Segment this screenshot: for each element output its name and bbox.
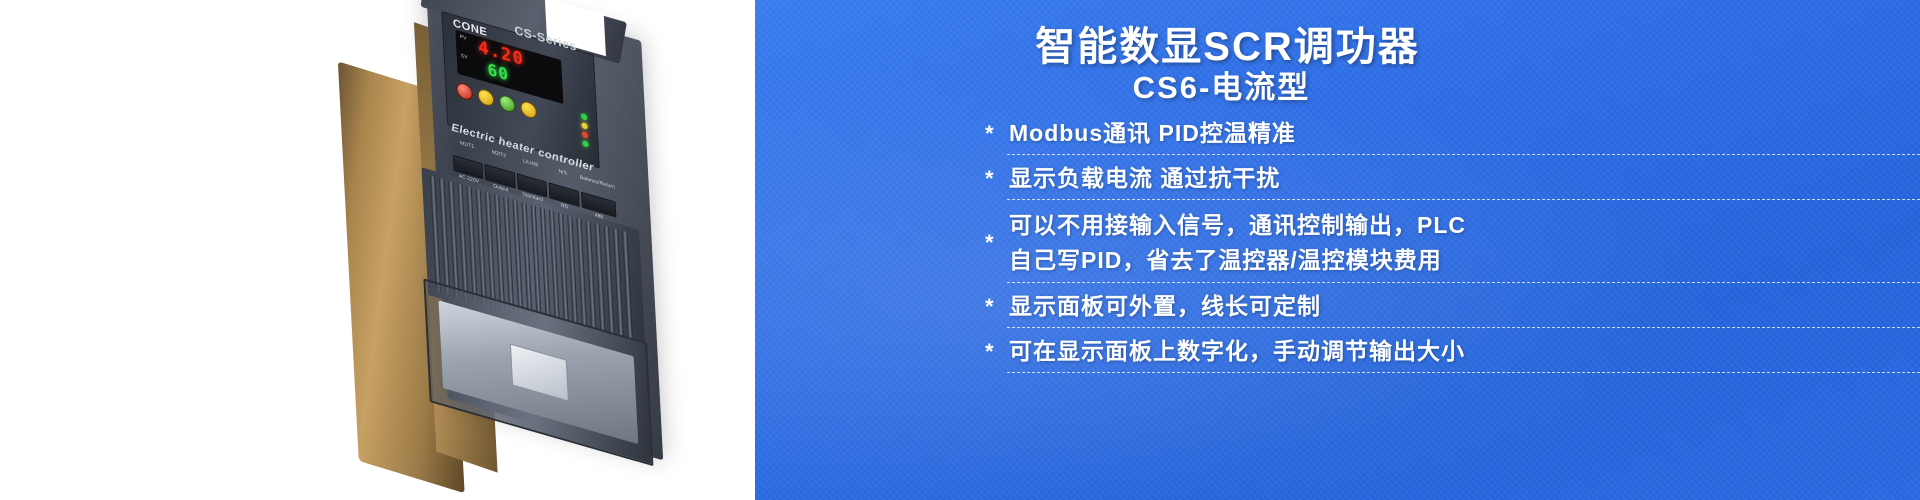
feature-divider	[1007, 327, 1920, 328]
heatsink-fin	[622, 231, 633, 348]
pv-label: PV	[460, 34, 467, 42]
lower-nameplate	[510, 343, 569, 402]
bullet-star-icon: *	[985, 232, 1009, 254]
feature-item: *显示面板可外置，线长可定制	[985, 291, 1785, 328]
feature-text: 可在显示面板上数字化，手动调节输出大小	[1009, 336, 1465, 367]
feature-item: *可以不用接输入信号，通讯控制输出，PLC 自己写PID，省去了温控器/温控模块…	[985, 208, 1785, 283]
feature-divider	[1007, 199, 1920, 200]
marketing-info-pane: 智能数显SCR调功器 CS6-电流型 *Modbus通讯 PID控温精准*显示负…	[755, 0, 1920, 500]
feature-item: *显示负载电流 通过抗干扰	[985, 163, 1785, 200]
set-button[interactable]	[456, 81, 473, 102]
bullet-star-icon: *	[985, 341, 1009, 363]
page-subtitle: CS6-电流型	[755, 62, 1920, 107]
scr-power-regulator-photo: CONE PV SV 4.20 60	[318, 0, 755, 500]
feature-list: *Modbus通讯 PID控温精准*显示负载电流 通过抗干扰*可以不用接输入信号…	[985, 118, 1785, 381]
feature-text: 显示负载电流 通过抗干扰	[1009, 163, 1280, 194]
sv-label: SV	[461, 53, 468, 61]
feature-text: 显示面板可外置，线长可定制	[1009, 291, 1321, 322]
feature-divider	[1007, 154, 1920, 155]
feature-item: *Modbus通讯 PID控温精准	[985, 118, 1785, 155]
output-lamp	[582, 140, 588, 148]
fault-lamp	[582, 131, 588, 139]
run-lamp	[581, 113, 587, 121]
down-button[interactable]	[499, 93, 516, 114]
feature-item: *可在显示面板上数字化，手动调节输出大小	[985, 336, 1785, 373]
feature-divider	[1007, 282, 1920, 283]
up-button[interactable]	[520, 99, 537, 120]
feature-divider	[1007, 372, 1920, 373]
shift-button[interactable]	[477, 87, 494, 108]
status-indicator-lamps	[581, 113, 589, 148]
bullet-star-icon: *	[985, 296, 1009, 318]
bullet-star-icon: *	[985, 123, 1009, 145]
product-image-pane: CONE PV SV 4.20 60	[0, 0, 755, 500]
bullet-star-icon: *	[985, 168, 1009, 190]
feature-text: Modbus通讯 PID控温精准	[1009, 118, 1296, 149]
feature-text: 可以不用接输入信号，通讯控制输出，PLC 自己写PID，省去了温控器/温控模块费…	[1009, 208, 1466, 277]
product-promo-banner: CONE PV SV 4.20 60	[0, 0, 1920, 500]
alarm-lamp	[581, 122, 587, 130]
